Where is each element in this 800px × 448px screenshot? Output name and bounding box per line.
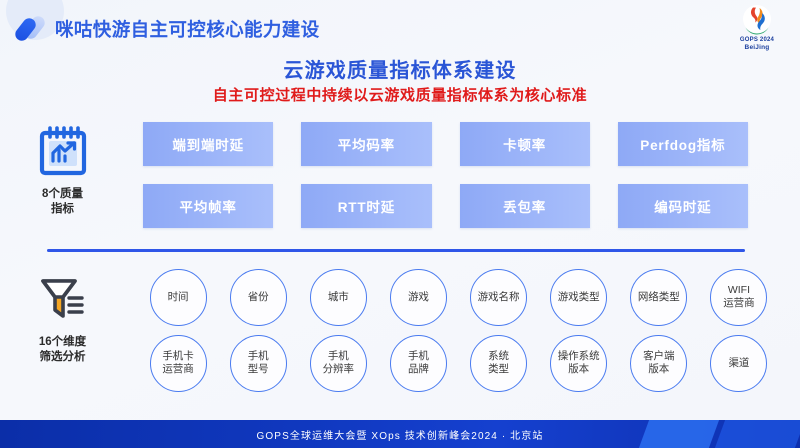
dimension-cell: 操作系统 版本: [540, 332, 618, 394]
metric-box[interactable]: 端到端时延: [143, 122, 273, 166]
metric-box[interactable]: 丢包率: [460, 184, 590, 228]
metric-box[interactable]: 平均帧率: [143, 184, 273, 228]
metric-box[interactable]: 平均码率: [301, 122, 431, 166]
dimension-pill[interactable]: 游戏类型: [550, 269, 607, 326]
dimensions-side-label: 16个维度 筛选分析: [0, 262, 125, 365]
dimensions-label-line2: 筛选分析: [0, 350, 125, 365]
dimension-cell: 渠道: [700, 332, 778, 394]
metrics-side-label: 8个质量 指标: [0, 114, 125, 217]
title-block: 云游戏质量指标体系建设 自主可控过程中持续以云游戏质量指标体系为核心标准: [0, 58, 800, 106]
footer-text: GOPS全球运维大会暨 XOps 技术创新峰会2024 · 北京站: [0, 420, 800, 448]
dimension-cell: 系统 类型: [460, 332, 538, 394]
dimension-pill[interactable]: 系统 类型: [470, 335, 527, 392]
dimension-cell: 时间: [139, 266, 217, 328]
chart-clipboard-icon: [0, 120, 125, 182]
dimension-cell: 手机 分辨率: [299, 332, 377, 394]
dimension-cell: 手机卡 运营商: [139, 332, 217, 394]
dimension-pill[interactable]: 手机 型号: [230, 335, 287, 392]
metrics-label-line1: 8个质量: [0, 187, 125, 202]
dimension-pill[interactable]: 网络类型: [630, 269, 687, 326]
metric-box[interactable]: Perfdog指标: [618, 122, 748, 166]
dimension-cell: 游戏名称: [460, 266, 538, 328]
page-title: 云游戏质量指标体系建设: [0, 58, 800, 84]
slide-root: 咪咕快游自主可控核心能力建设 GOPS 2024 BeiJing 云游戏质量指标…: [0, 0, 800, 448]
dimension-pill[interactable]: 时间: [150, 269, 207, 326]
dimension-cell: 游戏: [379, 266, 457, 328]
dimension-cell: 城市: [299, 266, 377, 328]
dimension-pill[interactable]: 手机 分辨率: [310, 335, 367, 392]
dimension-pill[interactable]: 手机 品牌: [390, 335, 447, 392]
header-bar: 咪咕快游自主可控核心能力建设: [0, 0, 800, 58]
dimension-pill[interactable]: 游戏: [390, 269, 447, 326]
conference-logo: GOPS 2024 BeiJing: [728, 4, 786, 56]
dimension-cell: 游戏类型: [540, 266, 618, 328]
dimension-pill[interactable]: 客户端 版本: [630, 335, 687, 392]
dimension-cell: 客户端 版本: [620, 332, 698, 394]
dimension-pill[interactable]: 游戏名称: [470, 269, 527, 326]
dimension-cell: 手机 品牌: [379, 332, 457, 394]
migu-pill-logo-icon: [18, 16, 44, 42]
page-subtitle: 自主可控过程中持续以云游戏质量指标体系为核心标准: [0, 86, 800, 106]
footer-bar: GOPS全球运维大会暨 XOps 技术创新峰会2024 · 北京站: [0, 420, 800, 448]
metric-box[interactable]: RTT时延: [301, 184, 431, 228]
dimension-pill[interactable]: 手机卡 运营商: [150, 335, 207, 392]
dimension-pill[interactable]: 操作系统 版本: [550, 335, 607, 392]
metric-box[interactable]: 卡顿率: [460, 122, 590, 166]
dimension-cell: 手机 型号: [219, 332, 297, 394]
dimension-pill[interactable]: 省份: [230, 269, 287, 326]
dimensions-section: 16个维度 筛选分析 时间 省份 城市 游戏 游戏名称 游戏类型 网络类型 WI…: [0, 262, 800, 402]
metric-box[interactable]: 编码时延: [618, 184, 748, 228]
dimension-cell: 网络类型: [620, 266, 698, 328]
dimensions-label-line1: 16个维度: [0, 335, 125, 350]
dimension-pill[interactable]: 城市: [310, 269, 367, 326]
metrics-section: 8个质量 指标 端到端时延 平均码率 卡顿率 Perfdog指标 平均帧率 RT…: [0, 114, 800, 240]
header-title: 咪咕快游自主可控核心能力建设: [55, 16, 320, 42]
funnel-filter-icon: [0, 268, 125, 330]
dimension-cell: WIFI 运营商: [700, 266, 778, 328]
conf-logo-line1: GOPS 2024: [728, 36, 786, 44]
dimension-pill[interactable]: 渠道: [710, 335, 767, 392]
dimension-cell: 省份: [219, 266, 297, 328]
metrics-label-line2: 指标: [0, 202, 125, 217]
metrics-grid: 端到端时延 平均码率 卡顿率 Perfdog指标 平均帧率 RTT时延 丢包率 …: [125, 114, 800, 228]
gops-swirl-logo-icon: [740, 4, 774, 36]
dimension-pill[interactable]: WIFI 运营商: [710, 269, 767, 326]
dimensions-grid: 时间 省份 城市 游戏 游戏名称 游戏类型 网络类型 WIFI 运营商 手机卡 …: [125, 262, 800, 394]
section-divider: [47, 249, 745, 252]
conf-logo-line2: BeiJing: [728, 44, 786, 52]
